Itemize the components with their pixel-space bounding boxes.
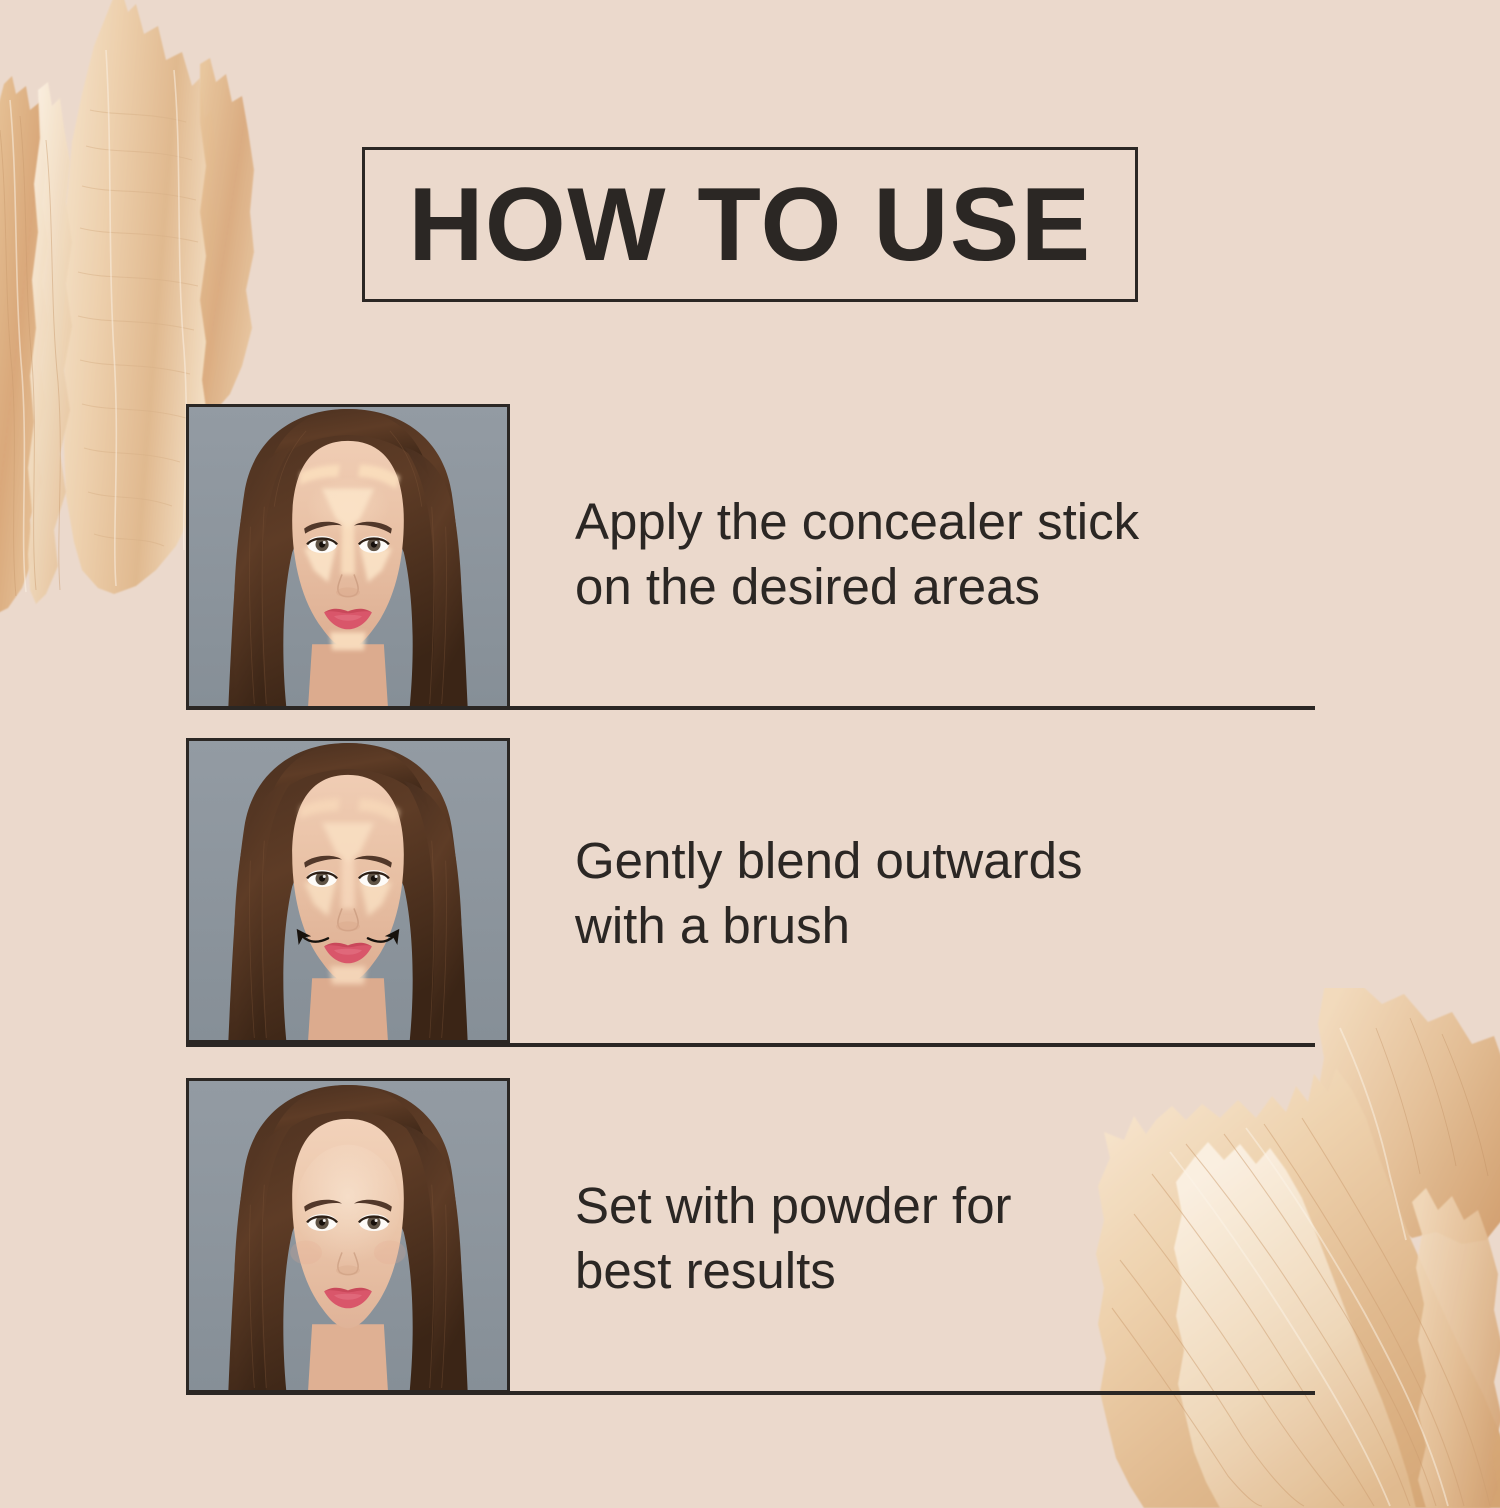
face-with-blend-arrows-image [189, 741, 507, 1040]
face-with-concealer-applied-image [189, 407, 507, 706]
page-title: HOW TO USE [408, 173, 1091, 277]
infographic-canvas: HOW TO USE [0, 0, 1500, 1500]
step-caption-3-line-1: Set with powder for [575, 1173, 1335, 1238]
step-photo-1 [186, 404, 510, 709]
step-photo-3 [186, 1078, 510, 1393]
step-caption-1-line-2: on the desired areas [575, 554, 1335, 619]
step-caption-2: Gently blend outwards with a brush [575, 828, 1335, 959]
step-divider-1 [186, 706, 1315, 710]
title-box: HOW TO USE [362, 147, 1138, 302]
face-finished-result-image [189, 1081, 507, 1390]
step-caption-2-line-1: Gently blend outwards [575, 828, 1335, 893]
step-caption-3: Set with powder for best results [575, 1173, 1335, 1304]
step-caption-1-line-1: Apply the concealer stick [575, 489, 1335, 554]
step-caption-3-line-2: best results [575, 1238, 1335, 1303]
step-caption-1: Apply the concealer stick on the desired… [575, 489, 1335, 620]
step-divider-2 [186, 1043, 1315, 1047]
step-photo-2 [186, 738, 510, 1043]
step-divider-3 [186, 1391, 1315, 1395]
step-caption-2-line-2: with a brush [575, 893, 1335, 958]
